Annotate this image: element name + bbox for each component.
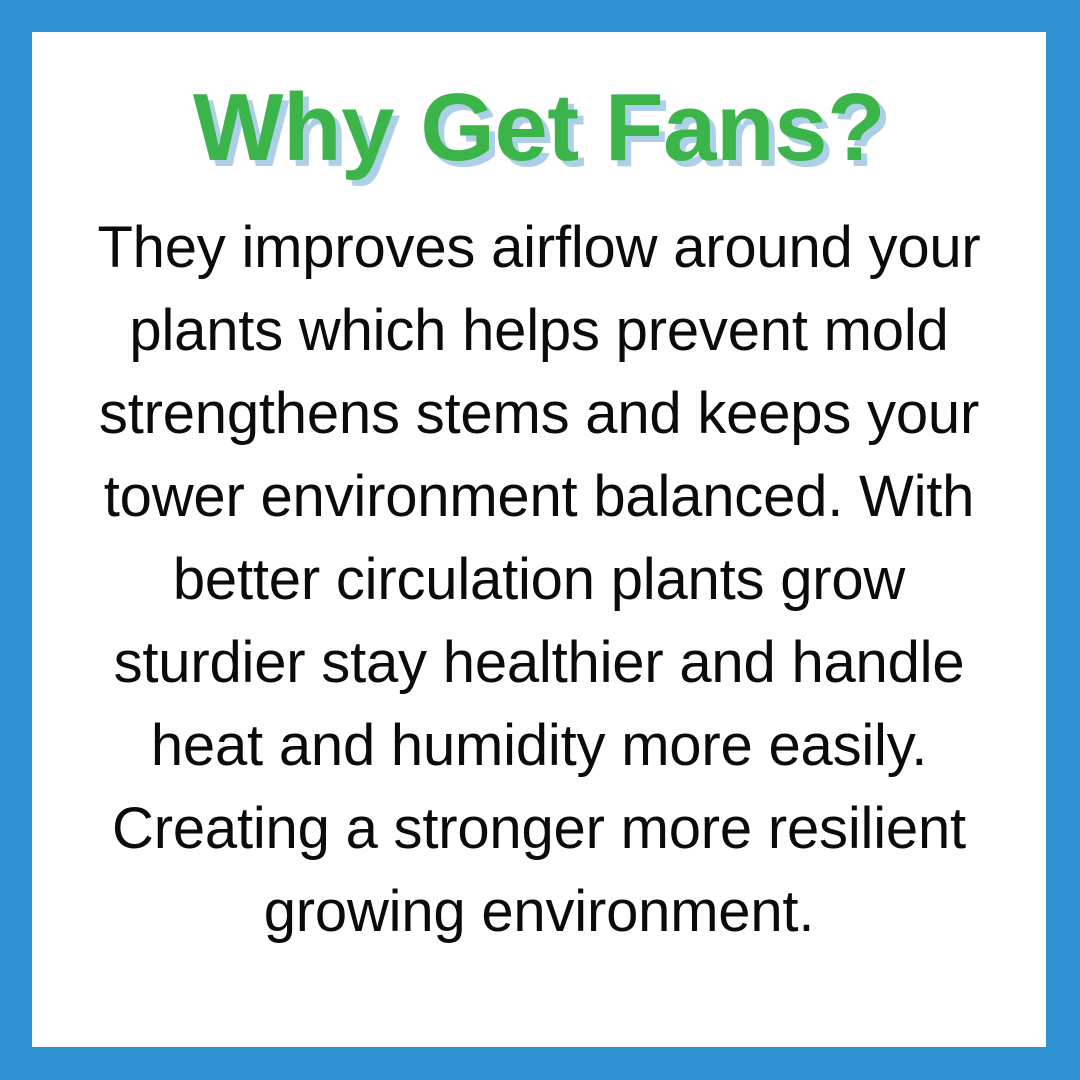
body-line: plants which helps prevent mold xyxy=(89,289,989,372)
white-content-card: Why Get Fans? They improves airflow arou… xyxy=(32,32,1046,1047)
body-paragraph: They improves airflow around your plants… xyxy=(89,176,989,953)
body-line: tower environment balanced. With xyxy=(89,455,989,538)
body-line: strengthens stems and keeps your xyxy=(89,372,989,455)
body-line: Creating a stronger more resilient xyxy=(89,787,989,870)
body-line: They improves airflow around your xyxy=(89,206,989,289)
body-line: heat and humidity more easily. xyxy=(89,704,989,787)
body-line: growing environment. xyxy=(89,870,989,953)
body-line: better circulation plants grow xyxy=(89,538,989,621)
poster-canvas: Why Get Fans? They improves airflow arou… xyxy=(0,0,1080,1080)
body-line: sturdier stay healthier and handle xyxy=(89,621,989,704)
page-title: Why Get Fans? xyxy=(32,32,1046,176)
